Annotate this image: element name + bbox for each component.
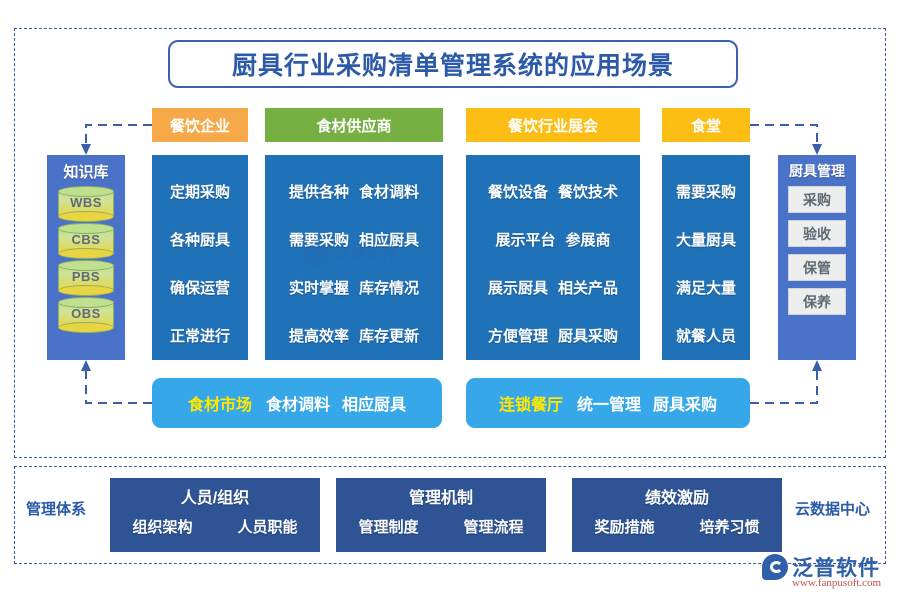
bottom-label-management-system: 管理体系: [26, 498, 86, 519]
column-header-catering-expo: 餐饮行业展会: [466, 108, 640, 142]
database-label: OBS: [58, 306, 114, 321]
bottom-card-title: 管理机制: [336, 484, 546, 508]
column-header-canteen: 食堂: [662, 108, 750, 142]
banner-value: 厨具采购: [653, 391, 717, 415]
management-button-acceptance[interactable]: 验收: [788, 220, 846, 247]
row-text: 需要采购: [676, 181, 736, 202]
column-row: 需要采购相应厨具: [265, 229, 443, 250]
bottom-card-sub: 管理流程: [463, 516, 523, 537]
row-text: 厨具采购: [558, 325, 618, 346]
banner-ingredient-market: 食材市场 食材调料 相应厨具: [152, 378, 442, 428]
column-row: 各种厨具: [152, 229, 248, 250]
banner-value: 相应厨具: [342, 391, 406, 415]
bottom-card-sub: 奖励措施: [594, 516, 654, 537]
management-button-purchase[interactable]: 采购: [788, 186, 846, 213]
database-icon-obs: OBS: [58, 297, 114, 331]
bottom-card-sub: 管理制度: [358, 516, 418, 537]
fanpu-logo-icon: [762, 554, 788, 580]
row-text: 展示平台: [495, 229, 555, 250]
row-text: 餐饮设备: [488, 181, 548, 202]
database-label: WBS: [58, 195, 114, 210]
column-body-ingredient-supplier: 提供各种食材调料 需要采购相应厨具 实时掌握库存情况 提高效率库存更新: [265, 155, 443, 360]
row-text: 提供各种: [289, 181, 349, 202]
bottom-card-subs: 奖励措施 培养习惯: [572, 516, 782, 537]
column-body-canteen: 需要采购 大量厨具 满足大量 就餐人员: [662, 155, 750, 360]
bottom-card-subs: 组织架构 人员职能: [110, 516, 320, 537]
bottom-card-subs: 管理制度 管理流程: [336, 516, 546, 537]
row-text: 库存更新: [359, 325, 419, 346]
banner-value: 统一管理: [577, 391, 641, 415]
row-text: 满足大量: [676, 277, 736, 298]
column-header-ingredient-supplier: 食材供应商: [265, 108, 443, 142]
brand-url: www.fanpusoft.com: [792, 577, 881, 589]
column-row: 餐饮设备餐饮技术: [466, 181, 640, 202]
bottom-card-title: 人员/组织: [110, 484, 320, 508]
row-text: 库存情况: [359, 277, 419, 298]
database-icon-pbs: PBS: [58, 260, 114, 294]
bottom-card-sub: 培养习惯: [699, 516, 759, 537]
banner-key: 连锁餐厅: [499, 391, 563, 415]
row-text: 方便管理: [488, 325, 548, 346]
management-button-maintenance[interactable]: 保养: [788, 288, 846, 315]
bottom-card-personnel-organization: 人员/组织 组织架构 人员职能: [110, 478, 320, 552]
database-label: PBS: [58, 269, 114, 284]
row-text: 食材调料: [359, 181, 419, 202]
row-text: 各种厨具: [170, 229, 230, 250]
bottom-card-sub: 组织架构: [132, 516, 192, 537]
row-text: 确保运营: [170, 277, 230, 298]
column-row: 需要采购: [662, 181, 750, 202]
column-row: 展示平台参展商: [466, 229, 640, 250]
row-text: 提高效率: [289, 325, 349, 346]
column-row: 方便管理厨具采购: [466, 325, 640, 346]
column-row: 确保运营: [152, 277, 248, 298]
page-title-text: 厨具行业采购清单管理系统的应用场景: [232, 46, 674, 82]
bottom-card-management-mechanism: 管理机制 管理制度 管理流程: [336, 478, 546, 552]
database-icon-wbs: WBS: [58, 186, 114, 220]
row-text: 相应厨具: [359, 229, 419, 250]
bottom-label-cloud-data-center: 云数据中心: [795, 498, 870, 519]
brand-logo: 泛普软件 www.fanpusoft.com: [762, 552, 892, 594]
row-text: 相关产品: [558, 277, 618, 298]
management-button-storage[interactable]: 保管: [788, 254, 846, 281]
row-text: 就餐人员: [676, 325, 736, 346]
column-row: 正常进行: [152, 325, 248, 346]
database-label: CBS: [58, 232, 114, 247]
column-row: 定期采购: [152, 181, 248, 202]
kitchenware-management-panel: 厨具管理 采购 验收 保管 保养: [778, 155, 856, 360]
column-row: 满足大量: [662, 277, 750, 298]
row-text: 正常进行: [170, 325, 230, 346]
banner-value: 食材调料: [266, 391, 330, 415]
column-row: 就餐人员: [662, 325, 750, 346]
column-row: 实时掌握库存情况: [265, 277, 443, 298]
bottom-card-title: 绩效激励: [572, 484, 782, 508]
row-text: 实时掌握: [289, 277, 349, 298]
bottom-card-performance-incentive: 绩效激励 奖励措施 培养习惯: [572, 478, 782, 552]
row-text: 定期采购: [170, 181, 230, 202]
banner-key: 食材市场: [188, 391, 252, 415]
knowledge-base-title: 知识库: [47, 161, 125, 182]
diagram-canvas: 厨具行业采购清单管理系统的应用场景 知识库 WBS CBS PBS OBS 餐饮…: [0, 0, 900, 600]
column-body-restaurant-enterprise: 定期采购 各种厨具 确保运营 正常进行: [152, 155, 248, 360]
row-text: 参展商: [566, 229, 611, 250]
bottom-card-sub: 人员职能: [237, 516, 297, 537]
row-text: 展示厨具: [488, 277, 548, 298]
banner-chain-restaurant: 连锁餐厅 统一管理 厨具采购: [466, 378, 750, 428]
column-body-catering-expo: 餐饮设备餐饮技术 展示平台参展商 展示厨具相关产品 方便管理厨具采购: [466, 155, 640, 360]
outer-frame-top: [14, 28, 886, 458]
column-header-restaurant-enterprise: 餐饮企业: [152, 108, 248, 142]
row-text: 餐饮技术: [558, 181, 618, 202]
column-row: 提高效率库存更新: [265, 325, 443, 346]
column-row: 大量厨具: [662, 229, 750, 250]
row-text: 需要采购: [289, 229, 349, 250]
knowledge-base-panel: 知识库 WBS CBS PBS OBS: [47, 155, 125, 360]
column-row: 提供各种食材调料: [265, 181, 443, 202]
row-text: 大量厨具: [676, 229, 736, 250]
kitchenware-management-title: 厨具管理: [778, 161, 856, 181]
database-icon-cbs: CBS: [58, 223, 114, 257]
column-row: 展示厨具相关产品: [466, 277, 640, 298]
page-title: 厨具行业采购清单管理系统的应用场景: [168, 40, 738, 88]
